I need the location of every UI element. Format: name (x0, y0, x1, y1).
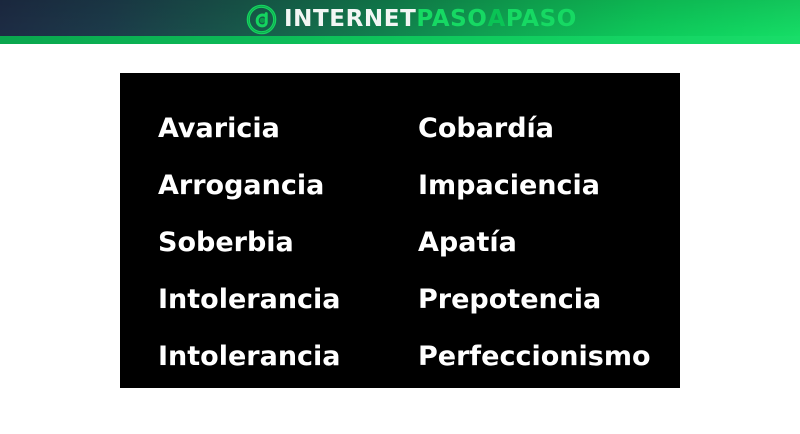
list-item: Avaricia (120, 100, 418, 157)
word-list-panel: Avaricia Cobardía Arrogancia Impaciencia… (120, 73, 680, 388)
list-item: Intolerancia (120, 328, 418, 385)
list-item: Apatía (418, 214, 680, 271)
list-item: Prepotencia (418, 271, 680, 328)
list-item: Arrogancia (120, 157, 418, 214)
site-header-banner: INTERNETPASOAPASO (0, 0, 800, 44)
at-circle-icon (246, 4, 277, 35)
list-item: Perfeccionismo (418, 328, 680, 385)
list-item: Soberbia (120, 214, 418, 271)
logo-word-paso-1: PASO (416, 8, 487, 31)
list-item: Cobardía (418, 100, 680, 157)
logo-word-internet: INTERNET (284, 8, 416, 31)
logo-word-paso-2: PASO (506, 8, 577, 31)
list-item: Intolerancia (120, 271, 418, 328)
logo-word-a: A (487, 8, 505, 31)
site-logo[interactable]: INTERNETPASOAPASO (246, 3, 577, 36)
list-item: Impaciencia (418, 157, 680, 214)
logo-wordmark: INTERNETPASOAPASO (284, 8, 577, 31)
word-grid: Avaricia Cobardía Arrogancia Impaciencia… (120, 73, 680, 388)
